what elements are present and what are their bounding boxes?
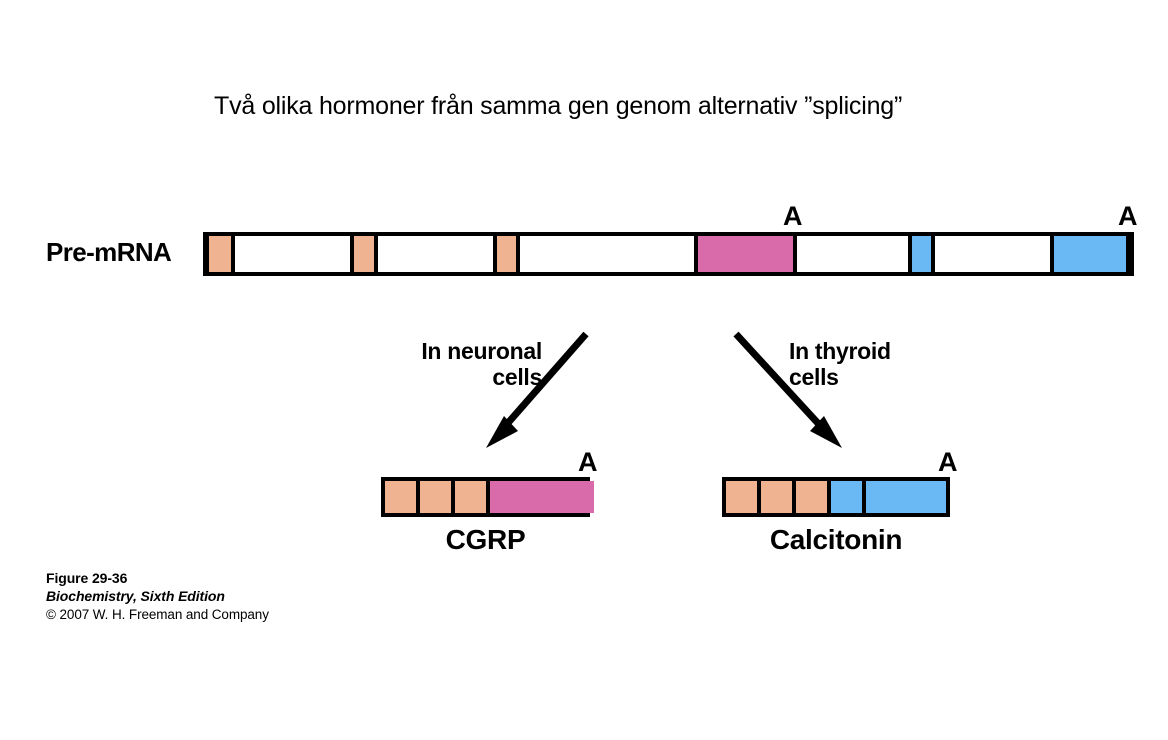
cgrp-segment-exon-2 (420, 481, 455, 513)
polya-marker-cgrp: A (783, 203, 803, 230)
figure-copyright: © 2007 W. H. Freeman and Company (46, 606, 269, 624)
cgrp-segment-exon-1 (385, 481, 420, 513)
premrna-label: Pre-mRNA (46, 237, 171, 268)
calcitonin-name: Calcitonin (712, 524, 960, 556)
calcitonin-segment-exon-2 (761, 481, 796, 513)
figure-book-title: Biochemistry, Sixth Edition (46, 587, 269, 605)
premrna-segment-exon-1 (205, 236, 235, 272)
calcitonin-bar (722, 477, 950, 517)
premrna-segment-intron-4 (797, 236, 908, 272)
polya-marker-calcitonin: A (1118, 203, 1138, 230)
premrna-segment-exon-5-blue-small (908, 236, 935, 272)
premrna-segment-intron-5 (935, 236, 1050, 272)
polya-marker-cgrp-product: A (578, 449, 598, 476)
premrna-segment-exon-3 (493, 236, 520, 272)
premrna-bar (203, 232, 1134, 276)
calcitonin-segment-exon-3 (796, 481, 831, 513)
premrna-segment-exon-4-cgrp-pink (694, 236, 797, 272)
arrow-thyroid (730, 328, 850, 453)
calcitonin-segment-exon-4-blue-small (831, 481, 866, 513)
premrna-segment-exon-2 (350, 236, 378, 272)
premrna-segment-intron-2 (378, 236, 493, 272)
polya-marker-calcitonin-product: A (938, 449, 958, 476)
figure-canvas: Två olika hormoner från samma gen genom … (0, 0, 1168, 740)
figure-number: Figure 29-36 (46, 569, 269, 587)
cgrp-segment-exon-4-pink (490, 481, 594, 513)
figure-title: Två olika hormoner från samma gen genom … (214, 92, 1014, 121)
calcitonin-segment-exon-1 (726, 481, 761, 513)
calcitonin-segment-exon-5-blue-large (866, 481, 946, 513)
premrna-segment-exon-6-blue-large (1050, 236, 1130, 272)
cgrp-bar (381, 477, 590, 517)
cgrp-segment-exon-3 (455, 481, 490, 513)
premrna-segment-intron-3 (520, 236, 694, 272)
premrna-segment-intron-1 (235, 236, 350, 272)
figure-credit: Figure 29-36 Biochemistry, Sixth Edition… (46, 569, 269, 624)
cgrp-name: CGRP (381, 524, 590, 556)
arrow-neuronal (478, 328, 598, 453)
